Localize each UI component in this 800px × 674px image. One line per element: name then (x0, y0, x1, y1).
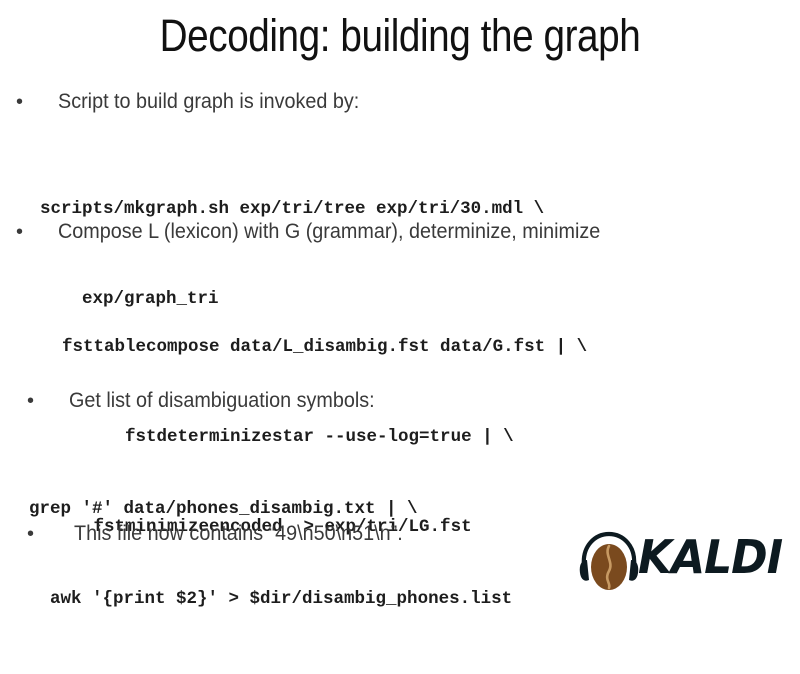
bullet-item-2: • Compose L (lexicon) with G (grammar), … (16, 218, 647, 244)
code-line: awk '{print $2}' > $dir/disambig_phones.… (29, 584, 512, 614)
kaldi-logo: KALDI (578, 530, 793, 596)
bullet-label-3: Get list of disambiguation symbols: (69, 387, 375, 413)
bullet-item-3: • Get list of disambiguation symbols: (27, 387, 401, 413)
bullet-marker-icon: • (27, 391, 69, 411)
bullet-label-2: Compose L (lexicon) with G (grammar), de… (58, 218, 600, 244)
page-title: Decoding: building the graph (56, 10, 744, 62)
bullet-marker-icon: • (16, 92, 58, 112)
bullet-item-1: • Script to build graph is invoked by: (16, 88, 385, 114)
code-block-grep-awk: grep '#' data/phones_disambig.txt | \ aw… (29, 434, 512, 674)
bullet-label-1: Script to build graph is invoked by: (58, 88, 359, 114)
bullet-label-4: This file now contains “49\n50\n51\n”. (74, 520, 403, 546)
slide-canvas: Decoding: building the graph • Script to… (0, 0, 800, 599)
coffee-bean-headphones-icon (578, 530, 640, 594)
bullet-item-4: • This file now contains “49\n50\n51\n”. (27, 520, 431, 546)
bullet-marker-icon: • (27, 524, 74, 544)
code-line: fsttablecompose data/L_disambig.fst data… (62, 332, 587, 362)
bullet-marker-icon: • (16, 222, 58, 242)
kaldi-wordmark: KALDI (638, 530, 782, 585)
